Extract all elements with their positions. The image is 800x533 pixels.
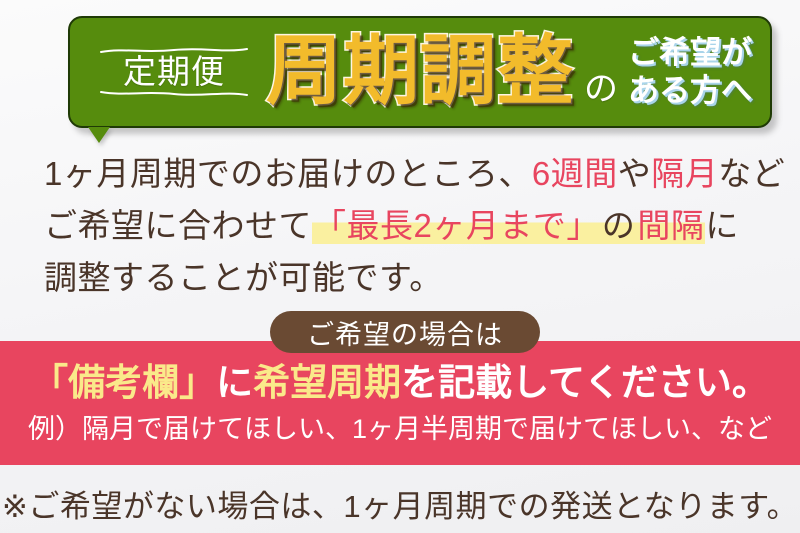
header-content-row: 定期便 周期調整 の ご希望が ある方へ — [70, 18, 770, 126]
pink-highlight-remarks-field: 「備考欄」 — [31, 362, 216, 403]
bubble-tail-icon — [88, 127, 110, 143]
footer-note: ※ご希望がない場合は、1ヶ月周期での発送となります。 — [0, 481, 800, 526]
body-line1-accent-6weeks: 6週間 — [532, 155, 618, 192]
body-line3-part1: 調整することが可能です。 — [44, 259, 443, 296]
body-line1-part1: 1ヶ月周期でのお届けのところ、 — [44, 155, 532, 192]
body-line1-part2: や — [618, 155, 652, 192]
body-line2-marked-interval: 間隔 — [636, 207, 705, 244]
body-line-2: ご希望に合わせて「最長2ヶ月まで」の間隔に — [44, 200, 774, 252]
pink-plain-particle-ni: に — [216, 362, 253, 403]
header-wish-line-2: ある方へ — [628, 72, 752, 110]
body-line-3: 調整することが可能です。 — [44, 252, 774, 304]
subscription-tag: 定期便 — [88, 40, 260, 105]
pink-example-text: 例）隔月で届けてほしい、1ヶ月半周期で届けてほしい、など — [0, 415, 800, 445]
body-paragraph: 1ヶ月周期でのお届けのところ、6週間や隔月など ご希望に合わせて「最長2ヶ月まで… — [44, 148, 774, 304]
header-main-title: 周期調整 — [266, 34, 574, 110]
body-line2-marked-particle: の — [601, 207, 637, 244]
body-line2-part2: に — [705, 207, 739, 244]
body-line-1: 1ヶ月周期でのお届けのところ、6週間や隔月など — [44, 148, 774, 200]
pink-highlight-desired-cycle: 希望周期 — [253, 362, 401, 403]
request-case-badge-label: ご希望の場合は — [307, 313, 503, 352]
body-line2-part1: ご希望に合わせて — [44, 207, 312, 244]
request-case-badge: ご希望の場合は — [270, 311, 540, 353]
pink-plain-please-write: を記載してください。 — [401, 362, 769, 403]
header-wish-line-1: ご希望が — [628, 34, 752, 72]
header-green-box: 定期便 周期調整 の ご希望が ある方へ — [68, 16, 772, 128]
pink-instruction-band: 「備考欄」に希望周期を記載してください。 例）隔月で届けてほしい、1ヶ月半周期で… — [0, 341, 800, 465]
body-line1-accent-everyothermonth: 隔月 — [651, 155, 718, 192]
body-line2-marked-maxtwomonths: 「最長2ヶ月まで」 — [312, 207, 601, 244]
pink-main-instruction: 「備考欄」に希望周期を記載してください。 — [0, 363, 800, 404]
header-title-particle: の — [584, 61, 618, 126]
subscription-tag-label: 定期便 — [88, 54, 260, 91]
wavy-rule-bottom-icon — [99, 90, 249, 97]
promo-banner: 定期便 周期調整 の ご希望が ある方へ 1ヶ月周期でのお届けのところ、6週間や… — [0, 0, 800, 533]
body-line1-part3: など — [718, 155, 785, 192]
header-wish-callout: ご希望が ある方へ — [628, 34, 752, 111]
